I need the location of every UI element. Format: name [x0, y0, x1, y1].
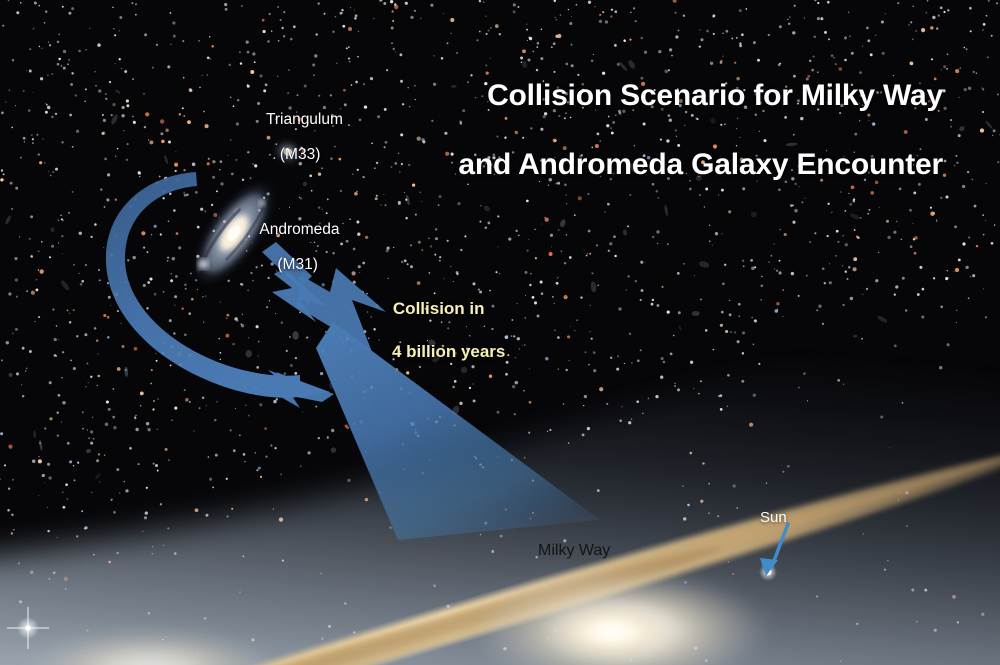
label-triangulum-name: Triangulum: [266, 111, 343, 128]
sun-pointer-arrow: [760, 524, 788, 576]
callout-line-1: Collision in: [393, 299, 485, 318]
illustration-canvas: Collision Scenario for Milky Way and And…: [0, 0, 1000, 665]
label-andromeda-name: Andromeda: [259, 221, 339, 238]
page-title: Collision Scenario for Milky Way and And…: [455, 45, 943, 250]
collision-callout: Collision in 4 billion years: [374, 276, 505, 407]
label-triangulum-m33: Triangulum (M33): [249, 93, 334, 181]
callout-line-2: 4 billion years: [374, 341, 505, 363]
label-triangulum-catalog: (M33): [280, 146, 320, 163]
label-sun: Sun: [760, 509, 787, 526]
title-line-1: Collision Scenario for Milky Way: [487, 79, 943, 112]
title-line-2: and Andromeda Galaxy Encounter: [455, 148, 943, 182]
label-milky-way: Milky Way: [538, 542, 610, 560]
label-andromeda-m31: Andromeda (M31): [243, 203, 335, 291]
label-andromeda-catalog: (M31): [277, 256, 317, 273]
